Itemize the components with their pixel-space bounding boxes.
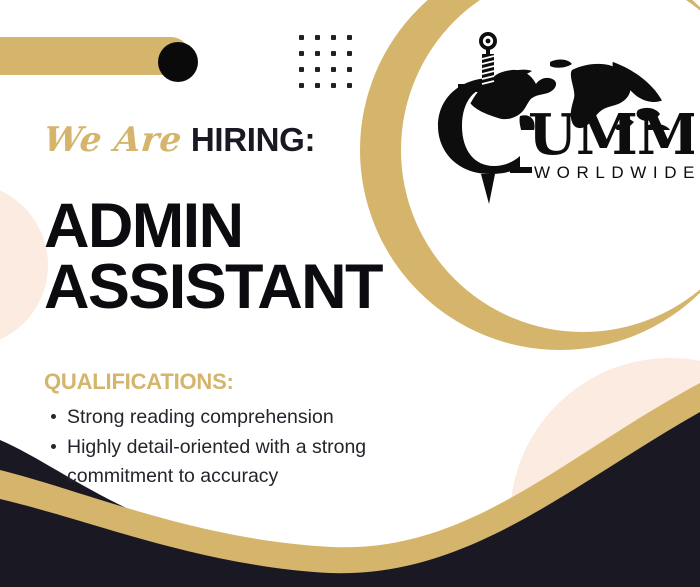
qualifications-list: Strong reading comprehension Highly deta… [44, 403, 467, 492]
job-title-line-2: ASSISTANT [44, 257, 464, 318]
eyebrow-hiring-text: HIRING: [191, 121, 315, 158]
company-logo: UMMINS WORLDWIDE [432, 26, 694, 204]
eyebrow-text: We AreHIRING: [44, 120, 315, 160]
page-title: ADMIN ASSISTANT [44, 196, 464, 318]
brand-tagline: WORLDWIDE [534, 163, 694, 182]
hiring-poster: We AreHIRING: ADMIN ASSISTANT QUALIFICAT… [0, 0, 700, 587]
qualifications-heading: QUALIFICATIONS: [44, 369, 234, 395]
eyebrow-script-text: We Are [42, 120, 184, 160]
job-title-line-1: ADMIN [44, 196, 464, 257]
list-item: Strong reading comprehension [67, 403, 467, 431]
brand-wordmark: UMMINS [528, 102, 694, 168]
list-item: Highly detail-oriented with a strong com… [67, 433, 467, 490]
